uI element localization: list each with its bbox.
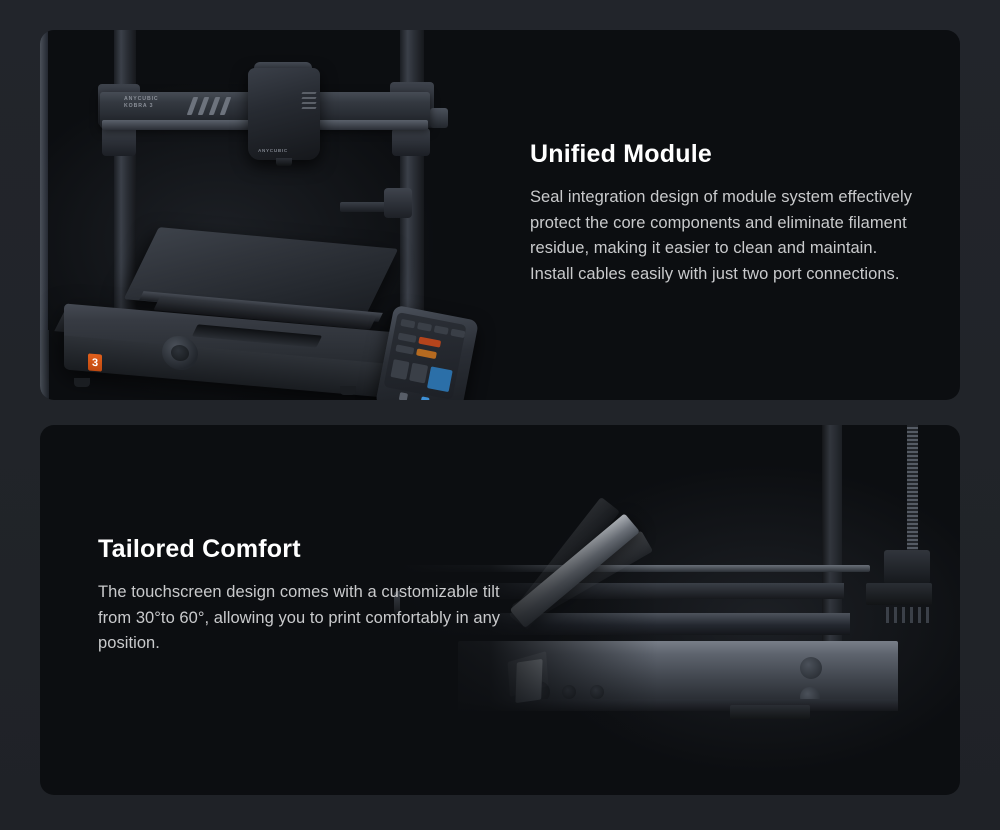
z-probe-bracket — [384, 188, 412, 218]
model-number-badge: 3 — [88, 353, 102, 371]
product-feature-page: ANYCUBIC KOBRA 3 ANYCUBIC 3 — [0, 0, 1000, 830]
feature-panel-unified-module: ANYCUBIC KOBRA 3 ANYCUBIC 3 — [40, 30, 960, 400]
touchscreen-display[interactable] — [383, 312, 466, 400]
z-tower-right — [400, 30, 424, 320]
print-head-vent-icon — [302, 92, 318, 114]
unified-module-headline: Unified Module — [530, 140, 920, 169]
gantry-brand-label: ANYCUBIC KOBRA 3 — [124, 96, 159, 110]
unified-module-text-block: Unified Module Seal integration design o… — [530, 140, 920, 287]
tailored-comfort-headline: Tailored Comfort — [98, 535, 518, 564]
nozzle — [276, 158, 292, 166]
printer-foot — [340, 386, 356, 395]
tailored-comfort-text-block: Tailored Comfort The touchscreen design … — [98, 535, 518, 657]
print-head-brand-label: ANYCUBIC — [258, 148, 288, 153]
feature-panel-tailored-comfort: Tailored Comfort The touchscreen design … — [40, 425, 960, 795]
unified-module-body-text: Seal integration design of module system… — [530, 185, 920, 287]
printer-foot — [74, 378, 90, 387]
nav-print-icon[interactable] — [420, 396, 429, 400]
gantry-bracket-left — [102, 126, 136, 156]
gantry-bracket-right — [392, 128, 430, 156]
belt-tension-knob — [430, 108, 448, 128]
tailored-comfort-body-text: The touchscreen design comes with a cust… — [98, 580, 518, 657]
nav-home-icon[interactable] — [399, 392, 408, 400]
gantry-stripe-decal — [190, 97, 236, 115]
print-head-module — [248, 68, 320, 160]
printer-full-view-image: ANYCUBIC KOBRA 3 ANYCUBIC 3 — [40, 30, 530, 400]
